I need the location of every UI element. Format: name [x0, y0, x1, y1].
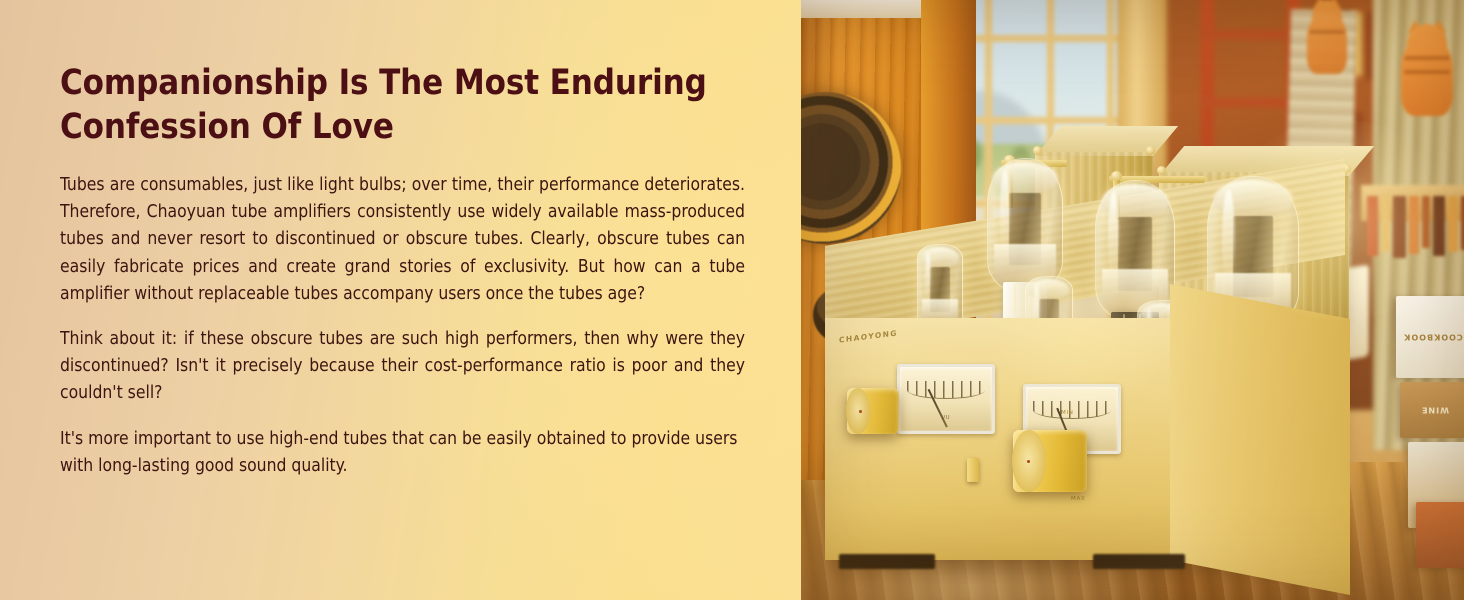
vu-meter-left: VU	[897, 364, 995, 434]
product-photo: CHAOYONG VU VU MIN MAX	[801, 0, 1464, 600]
book-item	[1416, 502, 1464, 568]
shelf-books	[1367, 196, 1464, 258]
volume-knob-large[interactable]	[1013, 430, 1087, 492]
power-switch[interactable]	[967, 458, 979, 482]
page-title: Companionship Is The Most Enduring Confe…	[60, 62, 745, 150]
amplifier-chassis: CHAOYONG VU VU MIN MAX	[825, 318, 1345, 560]
paragraph-1: Tubes are consumables, just like light b…	[60, 172, 745, 309]
body-copy: Tubes are consumables, just like light b…	[60, 172, 745, 481]
book-stack: COOKBOOK WINE	[1372, 296, 1464, 556]
book-item: WINE	[1400, 382, 1464, 438]
vu-meter-left-label: VU	[900, 415, 992, 421]
paragraph-2: Think about it: if these obscure tubes a…	[60, 326, 745, 408]
cat-icon	[1401, 24, 1453, 116]
knob-min-label: MIN	[1061, 410, 1074, 416]
amplifier-brand-label: CHAOYONG	[839, 328, 898, 344]
paragraph-3: It's more important to use high-end tube…	[60, 426, 745, 481]
promo-banner: Companionship Is The Most Enduring Confe…	[0, 0, 1464, 600]
text-panel: Companionship Is The Most Enduring Confe…	[0, 0, 801, 600]
knob-max-label: MAX	[1071, 496, 1085, 502]
book-item: COOKBOOK	[1396, 296, 1464, 378]
volume-knob-small[interactable]	[847, 388, 899, 434]
cat-icon-3	[1307, 0, 1347, 74]
